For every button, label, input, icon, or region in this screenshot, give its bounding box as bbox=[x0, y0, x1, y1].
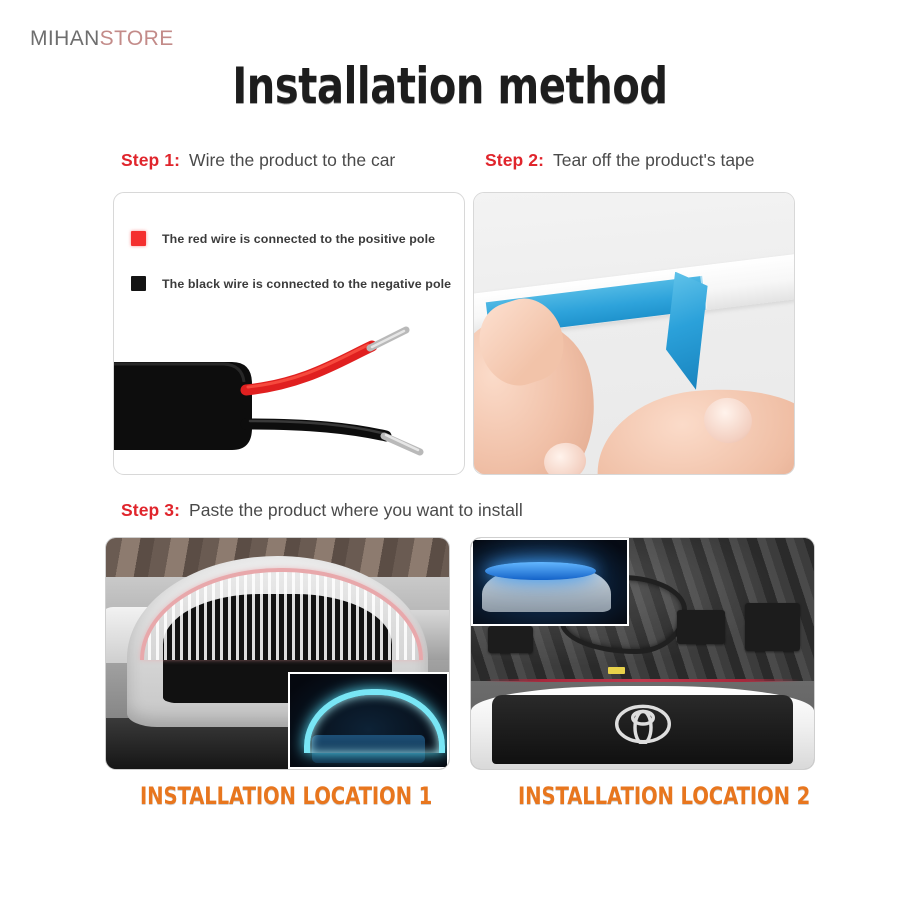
black-swatch-icon bbox=[131, 276, 146, 291]
installation-location-2-photo bbox=[470, 537, 815, 770]
step-1-text: Wire the product to the car bbox=[189, 150, 395, 170]
yellow-warning-label bbox=[608, 667, 625, 674]
step-2-text: Tear off the product's tape bbox=[553, 150, 754, 170]
tape-peel-illustration bbox=[474, 193, 794, 474]
legend-item-red-label: The red wire is connected to the positiv… bbox=[162, 232, 435, 246]
step-3-heading: Step 3:Paste the product where you want … bbox=[121, 500, 523, 521]
led-glow-cyan bbox=[304, 689, 445, 753]
hood-underside-illustration bbox=[106, 538, 449, 769]
brand-name-primary: MIHAN bbox=[30, 27, 100, 50]
installation-location-2-caption: INSTALLATION LOCATION 2 bbox=[518, 782, 810, 810]
step-1-card: The red wire is connected to the positiv… bbox=[113, 192, 465, 475]
step-2-photo bbox=[473, 192, 795, 475]
wire-illustration bbox=[114, 324, 465, 474]
infographic-page: MIHANSTORE Installation method Step 1:Wi… bbox=[0, 0, 900, 900]
led-glow-blue bbox=[485, 562, 596, 580]
legend-item-black: The black wire is connected to the negat… bbox=[131, 276, 451, 291]
step-1-heading: Step 1:Wire the product to the car bbox=[121, 150, 395, 171]
brand-logo: MIHANSTORE bbox=[30, 27, 174, 51]
step-3-text: Paste the product where you want to inst… bbox=[189, 500, 523, 520]
engine-component bbox=[745, 603, 800, 652]
red-swatch-icon bbox=[131, 231, 146, 246]
step-3-label: Step 3: bbox=[121, 500, 180, 520]
cable-jacket bbox=[114, 362, 252, 450]
engine-component bbox=[677, 610, 725, 645]
step-1-label: Step 1: bbox=[121, 150, 180, 170]
toyota-logo-icon bbox=[614, 704, 672, 744]
step-2-label: Step 2: bbox=[485, 150, 544, 170]
brand-name-secondary: STORE bbox=[100, 27, 174, 50]
engine-bay-illustration bbox=[471, 538, 814, 769]
installation-location-1-photo bbox=[105, 537, 450, 770]
step-2-heading: Step 2:Tear off the product's tape bbox=[485, 150, 755, 171]
installation-location-1-caption: INSTALLATION LOCATION 1 bbox=[140, 782, 432, 810]
cable-svg bbox=[114, 324, 465, 474]
legend-item-red: The red wire is connected to the positiv… bbox=[131, 231, 451, 246]
wire-legend: The red wire is connected to the positiv… bbox=[131, 231, 451, 321]
engine-component bbox=[488, 626, 533, 654]
night-inset-1 bbox=[288, 672, 449, 769]
night-inset-2 bbox=[471, 538, 629, 626]
legend-item-black-label: The black wire is connected to the negat… bbox=[162, 277, 451, 291]
page-title: Installation method bbox=[90, 58, 810, 114]
led-strip-installed bbox=[485, 679, 801, 682]
